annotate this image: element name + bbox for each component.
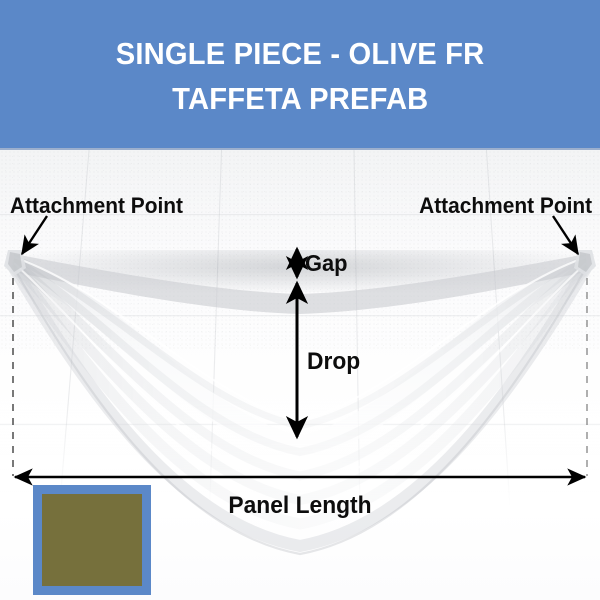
product-diagram-page: SINGLE PIECE - OLIVE FR TAFFETA PREFAB	[0, 0, 600, 600]
attachment-point-left-label: Attachment Point	[10, 193, 183, 219]
fabric-color-swatch[interactable]	[33, 485, 151, 595]
drop-label: Drop	[307, 348, 360, 376]
fabric-color-swatch-fill	[42, 494, 142, 586]
gap-label: Gap	[305, 250, 347, 277]
attachment-point-right-leader-arrow	[553, 216, 578, 254]
attachment-point-left-leader-arrow	[22, 216, 47, 254]
attachment-point-right-label: Attachment Point	[419, 193, 592, 219]
